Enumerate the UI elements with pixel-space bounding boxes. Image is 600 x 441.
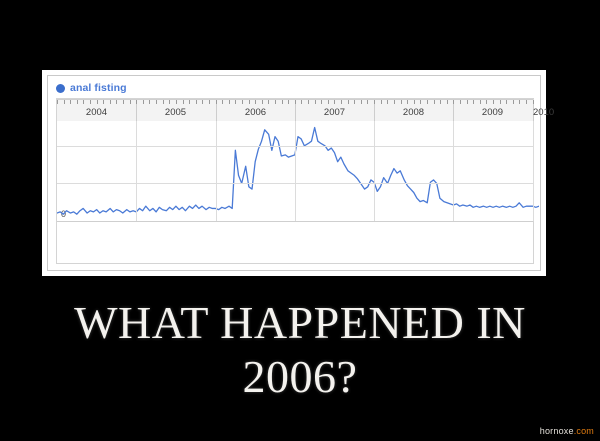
- axis-tick: [229, 100, 230, 104]
- axis-tick: [110, 100, 111, 104]
- axis-tick: [130, 100, 131, 104]
- axis-year-label-2007: 2007: [295, 107, 374, 118]
- axis-tick: [434, 100, 435, 104]
- chart-legend: anal fisting: [56, 81, 127, 95]
- axis-tick: [222, 100, 223, 104]
- axis-year-label-2008: 2008: [374, 107, 453, 118]
- watermark-tld: .com: [574, 426, 594, 436]
- axis-tick: [440, 100, 441, 104]
- axis-tick: [486, 100, 487, 104]
- axis-tick: [301, 100, 302, 104]
- axis-tick: [196, 100, 197, 104]
- axis-tick: [361, 100, 362, 104]
- axis-tick: [282, 100, 283, 104]
- axis-tick: [169, 100, 170, 104]
- axis-tick: [341, 100, 342, 104]
- axis-tick: [519, 100, 520, 104]
- caption-line-1: WHAT HAPPENED IN: [74, 297, 526, 348]
- caption-line-2: 2006?: [0, 350, 600, 404]
- legend-series-label: anal fisting: [70, 82, 127, 94]
- axis-tick: [249, 100, 250, 104]
- axis-tick: [381, 100, 382, 104]
- axis-tick: [149, 100, 150, 104]
- axis-tick: [268, 100, 269, 104]
- axis-tick: [493, 100, 494, 104]
- axis-tick: [77, 100, 78, 104]
- axis-year-label-2004: 2004: [57, 107, 136, 118]
- axis-tick: [275, 100, 276, 104]
- axis-tick: [90, 100, 91, 104]
- axis-tick: [348, 100, 349, 104]
- axis-tick: [70, 100, 71, 104]
- axis-tick: [308, 100, 309, 104]
- axis-tick: [103, 100, 104, 104]
- axis-tick: [321, 100, 322, 104]
- axis-tick: [163, 100, 164, 104]
- axis-tick: [242, 100, 243, 104]
- axis-tick: [453, 100, 454, 104]
- axis-tick: [202, 100, 203, 104]
- axis-tick: [407, 100, 408, 104]
- axis-tick: [480, 100, 481, 104]
- axis-tick: [334, 100, 335, 104]
- axis-tick: [57, 100, 58, 104]
- poster-caption: WHAT HAPPENED IN 2006?: [0, 296, 600, 404]
- axis-tick: [420, 100, 421, 104]
- axis-tick: [189, 100, 190, 104]
- chart-frame: anal fisting Search Volume index Google …: [42, 70, 546, 276]
- axis-year-label-2005: 2005: [136, 107, 215, 118]
- axis-year-label-2010: 2010: [533, 107, 551, 118]
- axis-tick: [460, 100, 461, 104]
- axis-tick: [216, 100, 217, 104]
- axis-tick: [513, 100, 514, 104]
- axis-tick: [262, 100, 263, 104]
- axis-tick: [401, 100, 402, 104]
- plot-inner: Search Volume index Google Trends 0: [57, 99, 533, 263]
- axis-tick: [367, 100, 368, 104]
- plot-area: Search Volume index Google Trends 0 2004…: [56, 98, 534, 264]
- axis-tick: [533, 100, 534, 104]
- axis-tick: [315, 100, 316, 104]
- filled-circle-icon: [56, 84, 65, 93]
- axis-tick: [526, 100, 527, 104]
- axis-tick: [156, 100, 157, 104]
- axis-tick: [506, 100, 507, 104]
- baseline-gridline: [57, 221, 533, 222]
- series-polyline: [57, 128, 539, 215]
- axis-year-label-2006: 2006: [216, 107, 295, 118]
- axis-tick: [374, 100, 375, 104]
- axis-tick: [209, 100, 210, 104]
- axis-tick: [176, 100, 177, 104]
- site-watermark: hornoxe.com: [540, 426, 594, 436]
- axis-tick: [387, 100, 388, 104]
- axis-tick: [123, 100, 124, 104]
- axis-tick: [500, 100, 501, 104]
- axis-tick: [295, 100, 296, 104]
- x-axis-strip: 2004200520062007200820092010: [57, 99, 533, 121]
- axis-tick: [143, 100, 144, 104]
- axis-year-label-2009: 2009: [453, 107, 532, 118]
- axis-tick: [473, 100, 474, 104]
- watermark-name: hornoxe: [540, 426, 574, 436]
- axis-tick: [64, 100, 65, 104]
- axis-tick: [328, 100, 329, 104]
- axis-tick: [116, 100, 117, 104]
- axis-tick: [467, 100, 468, 104]
- axis-tick: [414, 100, 415, 104]
- axis-tick: [255, 100, 256, 104]
- demotivational-poster: anal fisting Search Volume index Google …: [0, 0, 600, 441]
- axis-tick: [183, 100, 184, 104]
- axis-tick: [97, 100, 98, 104]
- google-trends-chart-card: anal fisting Search Volume index Google …: [47, 75, 541, 271]
- axis-tick: [447, 100, 448, 104]
- axis-tick: [354, 100, 355, 104]
- axis-tick: [427, 100, 428, 104]
- axis-tick: [136, 100, 137, 104]
- axis-tick: [394, 100, 395, 104]
- axis-tick: [288, 100, 289, 104]
- axis-tick: [83, 100, 84, 104]
- axis-tick: [235, 100, 236, 104]
